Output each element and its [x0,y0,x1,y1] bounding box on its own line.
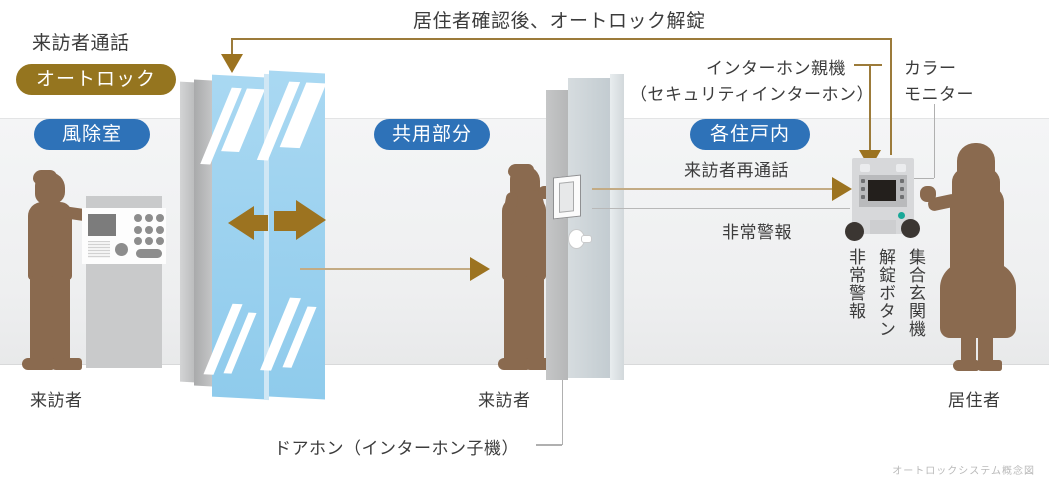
intercom-label-stem [869,64,871,154]
intercom-main-label: インターホン親機 [706,54,846,79]
top-flow-label: 居住者確認後、オートロック解錠 [413,6,706,33]
entrance-panel-speaker-grille [88,241,110,258]
intercom-sub-label: （セキュリティインターホン） [630,80,874,105]
emergency-alarm-button-dot-icon[interactable] [845,222,864,241]
zone-badge-kakujuko: 各住戸内 [690,119,810,150]
color-monitor-leader-stem [934,104,935,178]
dwelling-door-frame [610,74,624,380]
top-flow-line [231,38,891,40]
intercom-screen [868,180,896,201]
wall-top-line [0,118,1049,119]
intercom-status-led [898,212,905,219]
revisit-call-label: 来訪者再通話 [684,156,789,181]
doorphone-leader-line [536,444,562,446]
visitor-move-line [300,268,474,270]
dwelling-door-panel [568,78,610,378]
entrance-panel-camera-icon [115,243,128,256]
vertical-label-entrance-unit: 集合玄関機 [906,248,923,338]
top-flow-right-stem [890,38,892,155]
emergency-alarm-label: 非常警報 [722,218,792,243]
entrance-panel-screen [88,214,116,236]
diagram-caption: オートロックシステム概念図 [892,462,1035,477]
autolock-badge: オートロック [16,64,176,95]
unlock-button-dot-icon[interactable] [901,219,920,238]
vertical-label-emergency: 非常警報 [846,248,863,320]
intercom-label-leader [854,64,882,66]
doorphone-slave-unit [553,175,581,220]
revisit-call-arrow-icon [832,177,852,201]
emergency-alarm-line [592,208,850,209]
entrance-intercom-panel [82,208,166,264]
zone-badge-fujoshitsu: 風除室 [34,119,150,150]
vertical-label-unlock: 解錠ボタン [876,248,893,338]
person-label-visitor-door: 来訪者 [478,386,531,411]
color-monitor-label-line1: カラー [904,54,957,79]
person-label-visitor-entrance: 来訪者 [30,386,83,411]
doorphone-label: ドアホン（インターホン子機） [274,434,519,459]
visitor-call-label: 来訪者通話 [32,28,130,55]
person-label-resident: 居住者 [948,386,1001,411]
autolock-system-diagram: 居住者確認後、オートロック解錠 来訪者通話 オートロック 風除室 共用部分 各住… [0,0,1049,489]
autolock-release-arrow-icon [221,54,243,73]
visitor-move-arrow-icon [470,257,490,281]
arrow-left-icon [228,206,254,240]
zone-badge-kyoyo: 共用部分 [374,119,490,150]
intercom-speaker-slot [870,220,896,234]
color-monitor-label-line2: モニター [904,80,974,105]
revisit-call-line [592,188,834,190]
